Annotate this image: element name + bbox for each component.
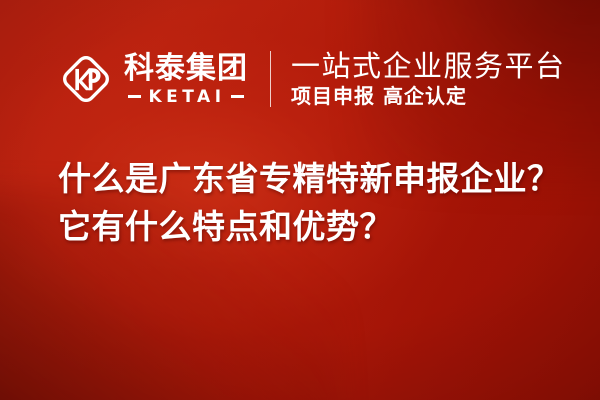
headline-block: 什么是广东省专精特新申报企业？ 它有什么特点和优势？ <box>58 155 558 251</box>
brand-wordmark: 科泰集团 KETAI <box>124 53 248 106</box>
tagline-block: 一站式企业服务平台 项目申报 高企认定 <box>291 50 566 108</box>
brand-dash-left-icon <box>128 95 141 98</box>
brand-lockup: 科泰集团 KETAI <box>58 51 248 107</box>
headline-line-2: 它有什么特点和优势？ <box>58 203 558 251</box>
header-divider <box>270 51 271 107</box>
tagline-main: 一站式企业服务平台 <box>291 50 566 82</box>
brand-dash-right-icon <box>231 95 244 98</box>
promo-banner: 科泰集团 KETAI 一站式企业服务平台 项目申报 高企认定 什么是广东省专精特… <box>0 0 600 400</box>
brand-name-cn: 科泰集团 <box>124 53 248 85</box>
tagline-sub: 项目申报 高企认定 <box>291 84 566 108</box>
banner-header: 科泰集团 KETAI 一站式企业服务平台 项目申报 高企认定 <box>0 40 600 118</box>
brand-name-en: KETAI <box>141 88 230 106</box>
headline-line-1: 什么是广东省专精特新申报企业？ <box>58 155 558 203</box>
ketai-diamond-monogram-logo-icon <box>58 51 114 107</box>
brand-name-en-row: KETAI <box>124 88 248 106</box>
